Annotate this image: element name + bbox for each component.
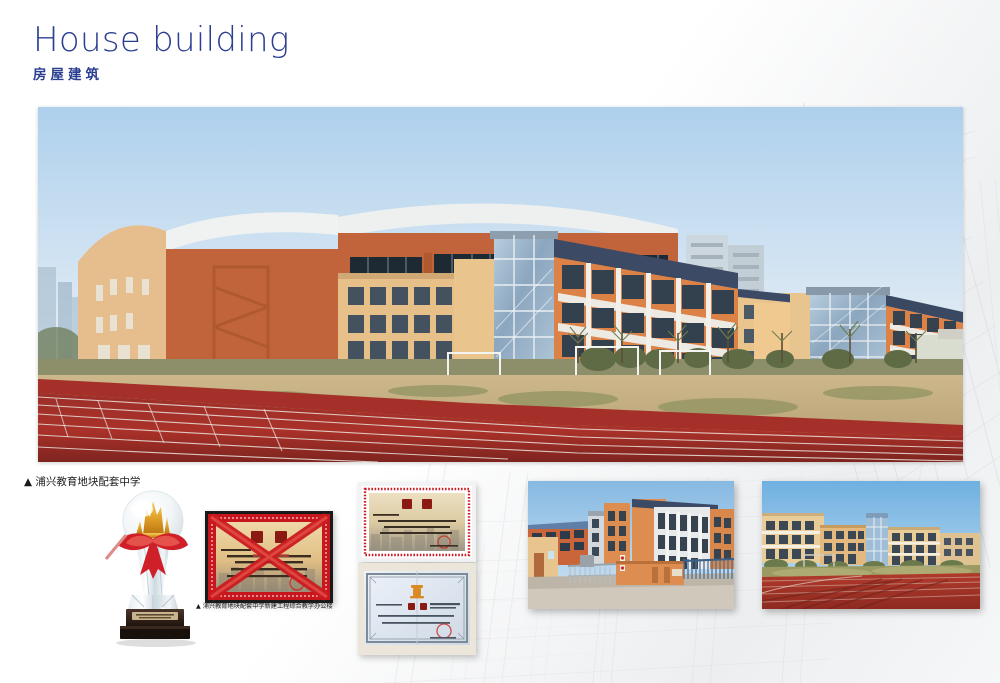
crystal-trophy [96,483,211,648]
page-header: House building 房屋建筑 [33,22,290,83]
certificate-2014 [205,511,333,603]
page-root: House building 房屋建筑 [0,0,1000,683]
certificate-2013-illustration [358,482,476,562]
certificate-blue [358,563,476,655]
campus-gate-illustration [528,481,734,609]
campus-gate-photo [528,481,734,609]
page-title-cn: 房屋建筑 [33,63,290,83]
certificate-2013 [358,482,476,562]
trophy-illustration [96,483,211,648]
page-title-en: House building [33,22,290,59]
certificate-blue-illustration [358,563,476,655]
hero-illustration [38,107,963,462]
certificate-2014-illustration [205,511,333,603]
school-campus-panorama [38,107,963,462]
certificate-caption: ▲ 浦兴教育地块配套中学新建工程综合教学办公楼 [196,601,333,610]
sports-field-photo [762,481,980,609]
sports-field-illustration [762,481,980,609]
